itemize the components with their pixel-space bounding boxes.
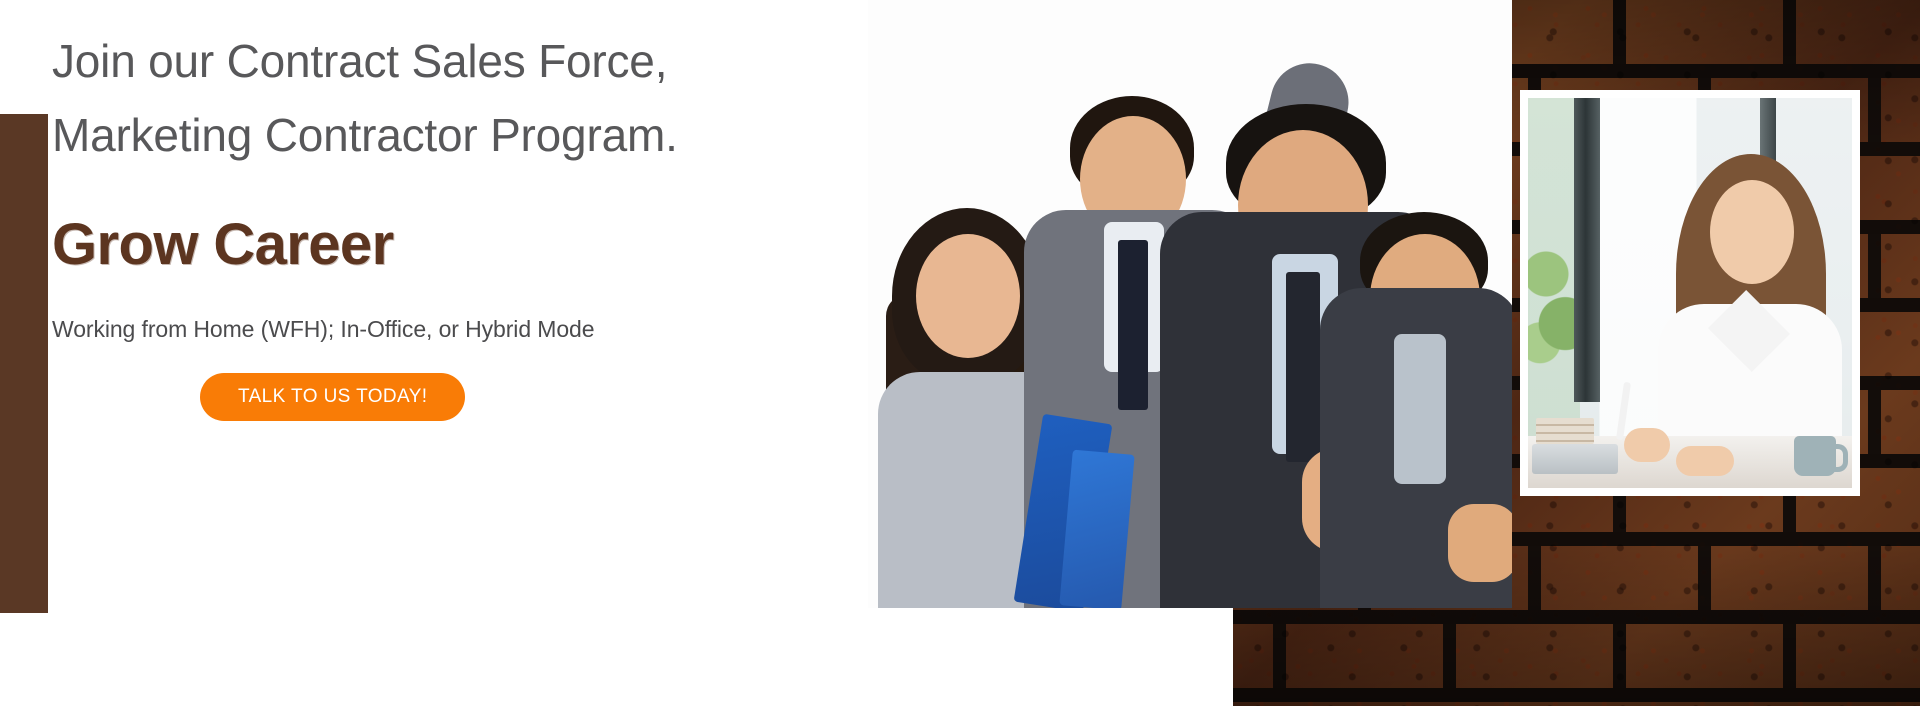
hand-holding-pen [1624,428,1670,462]
talk-to-us-today-button[interactable]: TALK TO US TODAY! [200,373,465,421]
subheading-grow-career: Grow Career [52,216,872,274]
headline-line-2: Marketing Contractor Program. [52,98,872,172]
cta-container: TALK TO US TODAY! [52,373,872,421]
coffee-mug [1794,436,1836,476]
laptop [1532,444,1618,474]
person-man-cheering [1320,88,1512,608]
businesswoman-figure [1652,154,1842,454]
window-frame-bar [1574,98,1600,402]
woman-at-desk-photo-frame [1520,90,1860,496]
career-hero-banner: Join our Contract Sales Force, Marketing… [0,0,1920,706]
stacked-books [1536,418,1594,444]
page-title: Join our Contract Sales Force, Marketing… [52,24,872,172]
tagline-work-mode: Working from Home (WFH); In-Office, or H… [52,316,872,343]
hero-text-block: Join our Contract Sales Force, Marketing… [52,24,872,421]
resting-hand [1676,446,1734,476]
team-photo-canvas [868,0,1512,608]
headline-line-1: Join our Contract Sales Force, [52,24,872,98]
accent-bar [0,114,48,613]
cheering-business-team-photo [868,0,1512,608]
woman-at-desk-photo [1528,98,1852,488]
